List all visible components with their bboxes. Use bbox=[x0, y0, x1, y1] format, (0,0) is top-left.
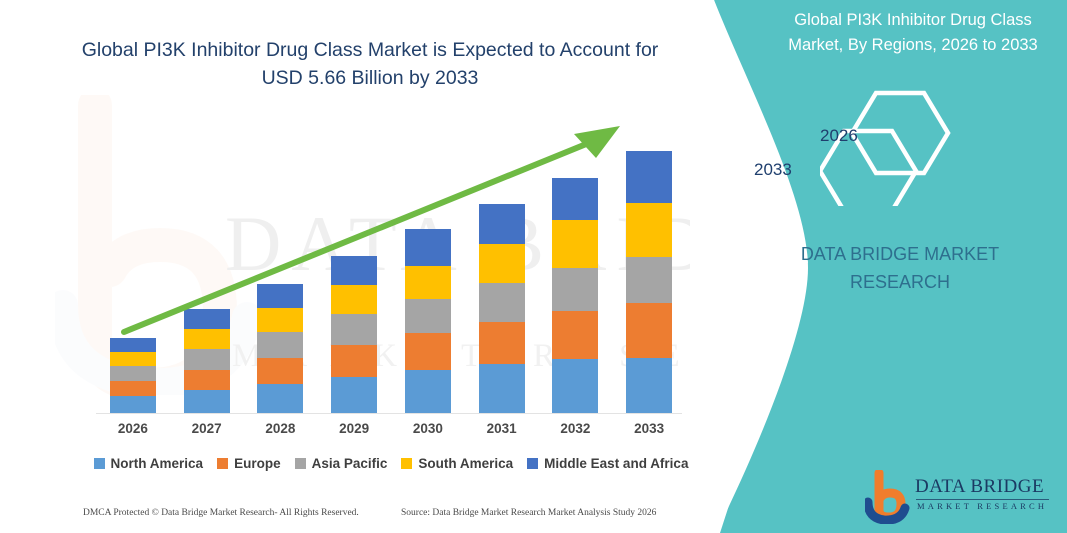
hexagon-label-2026: 2026 bbox=[820, 126, 858, 146]
stacked-bar[interactable] bbox=[552, 178, 598, 414]
stacked-bar[interactable] bbox=[257, 284, 303, 414]
x-axis-label-2033: 2033 bbox=[619, 421, 679, 436]
bar-segment bbox=[331, 377, 377, 414]
x-axis-label-2029: 2029 bbox=[324, 421, 384, 436]
bar-segment bbox=[331, 285, 377, 314]
bar-segment bbox=[626, 257, 672, 303]
bar-segment bbox=[552, 359, 598, 414]
bar-segment bbox=[479, 364, 525, 414]
legend-swatch-icon bbox=[527, 458, 538, 469]
bar-segment bbox=[110, 352, 156, 366]
logo-secondary-text: MARKET RESEARCH bbox=[917, 501, 1047, 511]
bar-segment bbox=[405, 370, 451, 414]
bar-segment bbox=[552, 220, 598, 268]
bar-segment bbox=[110, 366, 156, 381]
legend-label: Asia Pacific bbox=[312, 456, 388, 471]
legend-item[interactable]: North America bbox=[94, 456, 204, 471]
bar-segment bbox=[184, 329, 230, 349]
legend-swatch-icon bbox=[94, 458, 105, 469]
legend-swatch-icon bbox=[401, 458, 412, 469]
bar-segment bbox=[479, 244, 525, 283]
bar-segment bbox=[184, 390, 230, 414]
x-axis-labels: 20262027202820292030203120322033 bbox=[96, 421, 686, 443]
bar-segment bbox=[552, 311, 598, 359]
bar-segment bbox=[626, 203, 672, 257]
stacked-bar[interactable] bbox=[184, 309, 230, 414]
stacked-bar-plot bbox=[96, 120, 686, 414]
data-bridge-b-logo-icon bbox=[865, 470, 913, 524]
page-title: Global PI3K Inhibitor Drug Class Market … bbox=[60, 36, 680, 93]
bar-segment bbox=[479, 283, 525, 322]
logo-primary-text: DATA BRIDGE bbox=[915, 476, 1044, 498]
infographic-page: DATA BRIDGE MARKET RESEARCH Global PI3K … bbox=[0, 0, 1067, 533]
bar-segment bbox=[257, 308, 303, 332]
bar-segment bbox=[331, 345, 377, 377]
x-axis-label-2028: 2028 bbox=[250, 421, 310, 436]
stacked-bar[interactable] bbox=[110, 338, 156, 414]
x-axis-label-2031: 2031 bbox=[472, 421, 532, 436]
bar-segment bbox=[552, 178, 598, 220]
legend-item[interactable]: Asia Pacific bbox=[295, 456, 388, 471]
bar-segment bbox=[110, 396, 156, 414]
bar-segment bbox=[257, 332, 303, 358]
legend-item[interactable]: South America bbox=[401, 456, 513, 471]
bar-segment bbox=[405, 266, 451, 299]
bar-segment bbox=[479, 322, 525, 364]
stacked-bar[interactable] bbox=[479, 204, 525, 414]
bar-segment bbox=[184, 370, 230, 390]
bar-segment bbox=[184, 309, 230, 329]
data-bridge-logo: DATA BRIDGE MARKET RESEARCH bbox=[865, 470, 1055, 526]
legend-swatch-icon bbox=[217, 458, 228, 469]
logo-divider bbox=[916, 499, 1049, 500]
footer-source: Source: Data Bridge Market Research Mark… bbox=[401, 508, 656, 518]
brand-panel-content: Global PI3K Inhibitor Drug Class Market,… bbox=[690, 0, 1067, 533]
year-hexagons bbox=[820, 86, 1060, 206]
chart-legend: North AmericaEuropeAsia PacificSouth Ame… bbox=[96, 452, 686, 474]
stacked-bar[interactable] bbox=[626, 151, 672, 414]
legend-label: South America bbox=[418, 456, 513, 471]
bar-segment bbox=[257, 284, 303, 308]
legend-label: Europe bbox=[234, 456, 281, 471]
x-axis-label-2032: 2032 bbox=[545, 421, 605, 436]
footer-copyright: DMCA Protected © Data Bridge Market Rese… bbox=[83, 508, 359, 518]
bar-segment bbox=[257, 358, 303, 384]
stacked-bar[interactable] bbox=[405, 229, 451, 414]
bar-segment bbox=[184, 349, 230, 370]
bar-segment bbox=[257, 384, 303, 414]
bar-segment bbox=[405, 299, 451, 333]
bar-segment bbox=[626, 358, 672, 414]
bar-segment bbox=[626, 151, 672, 203]
bar-segment bbox=[331, 256, 377, 285]
chart-panel: DATA BRIDGE MARKET RESEARCH Global PI3K … bbox=[0, 0, 760, 533]
bar-segment bbox=[110, 338, 156, 352]
axis-baseline bbox=[96, 413, 682, 414]
legend-swatch-icon bbox=[295, 458, 306, 469]
x-axis-label-2030: 2030 bbox=[398, 421, 458, 436]
bar-segment bbox=[479, 204, 525, 244]
x-axis-label-2027: 2027 bbox=[177, 421, 237, 436]
hexagon-label-2033: 2033 bbox=[754, 160, 792, 180]
brand-panel-title: Global PI3K Inhibitor Drug Class Market,… bbox=[766, 8, 1060, 58]
brand-name: DATA BRIDGE MARKET RESEARCH bbox=[750, 241, 1050, 297]
bar-segment bbox=[331, 314, 377, 345]
bar-segment bbox=[552, 268, 598, 311]
x-axis-label-2026: 2026 bbox=[103, 421, 163, 436]
legend-item[interactable]: Middle East and Africa bbox=[527, 456, 688, 471]
bar-segment bbox=[405, 229, 451, 266]
legend-item[interactable]: Europe bbox=[217, 456, 281, 471]
brand-panel: Global PI3K Inhibitor Drug Class Market,… bbox=[690, 0, 1067, 533]
bar-segment bbox=[626, 303, 672, 358]
bar-segment bbox=[110, 381, 156, 396]
stacked-bar[interactable] bbox=[331, 256, 377, 414]
footer: DMCA Protected © Data Bridge Market Rese… bbox=[0, 506, 760, 530]
legend-label: Middle East and Africa bbox=[544, 456, 688, 471]
bar-segment bbox=[405, 333, 451, 370]
legend-label: North America bbox=[111, 456, 204, 471]
